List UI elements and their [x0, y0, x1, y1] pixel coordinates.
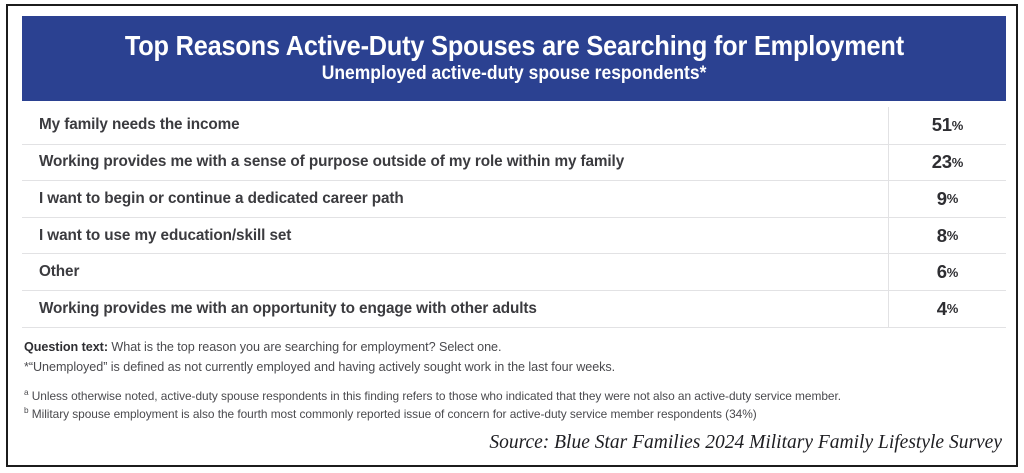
- row-value: 51%: [888, 107, 1006, 144]
- footnote-a: a Unless otherwise noted, active-duty sp…: [24, 387, 1004, 405]
- source-line: Source: Blue Star Families 2024 Military…: [489, 432, 1002, 454]
- row-value-number: 8: [937, 225, 947, 247]
- row-value-number: 6: [937, 261, 947, 283]
- chart-title: Top Reasons Active-Duty Spouses are Sear…: [124, 31, 903, 61]
- row-value-percent-sign: %: [947, 228, 959, 243]
- table-row: I want to begin or continue a dedicated …: [22, 180, 1006, 217]
- table-row: Working provides me with an opportunity …: [22, 290, 1006, 327]
- row-value-percent-sign: %: [947, 191, 959, 206]
- table-row: Working provides me with a sense of purp…: [22, 144, 1006, 181]
- question-text-label: Question text:: [24, 340, 108, 354]
- notes-spacer: [24, 378, 1004, 387]
- row-label: Other: [22, 263, 888, 281]
- row-value: 23%: [888, 145, 1006, 181]
- row-value: 8%: [888, 218, 1006, 254]
- chart-subtitle: Unemployed active-duty spouse respondent…: [322, 63, 707, 86]
- row-value-percent-sign: %: [947, 301, 959, 316]
- results-table: My family needs the income 51% Working p…: [22, 107, 1006, 328]
- row-value-number: 51: [932, 114, 952, 136]
- notes-section: Question text: What is the top reason yo…: [24, 337, 1004, 423]
- table-row: I want to use my education/skill set 8%: [22, 217, 1006, 254]
- chart-header-banner: Top Reasons Active-Duty Spouses are Sear…: [22, 16, 1006, 101]
- question-text-body: What is the top reason you are searching…: [108, 340, 501, 354]
- row-label: I want to use my education/skill set: [22, 227, 888, 245]
- row-value-percent-sign: %: [952, 155, 964, 170]
- row-value: 4%: [888, 291, 1006, 327]
- row-value: 9%: [888, 181, 1006, 217]
- row-label: My family needs the income: [22, 116, 888, 134]
- table-row: My family needs the income 51%: [22, 107, 1006, 144]
- figure-container: Top Reasons Active-Duty Spouses are Sear…: [6, 4, 1018, 467]
- footnote-a-body: Unless otherwise noted, active-duty spou…: [29, 389, 841, 403]
- footnote-b-body: Military spouse employment is also the f…: [29, 407, 757, 421]
- table-row: Other 6%: [22, 253, 1006, 290]
- row-label: Working provides me with an opportunity …: [22, 300, 888, 318]
- row-value-number: 4: [937, 298, 947, 320]
- footnote-b: b Military spouse employment is also the…: [24, 405, 1004, 423]
- asterisk-note: *“Unemployed” is defined as not currentl…: [24, 357, 1004, 377]
- row-label: Working provides me with a sense of purp…: [22, 153, 888, 171]
- row-value-percent-sign: %: [952, 118, 964, 133]
- row-value-percent-sign: %: [947, 265, 959, 280]
- row-label: I want to begin or continue a dedicated …: [22, 190, 888, 208]
- question-text-note: Question text: What is the top reason yo…: [24, 337, 1004, 357]
- row-value-number: 9: [937, 188, 947, 210]
- row-value: 6%: [888, 254, 1006, 290]
- row-value-number: 23: [932, 151, 952, 173]
